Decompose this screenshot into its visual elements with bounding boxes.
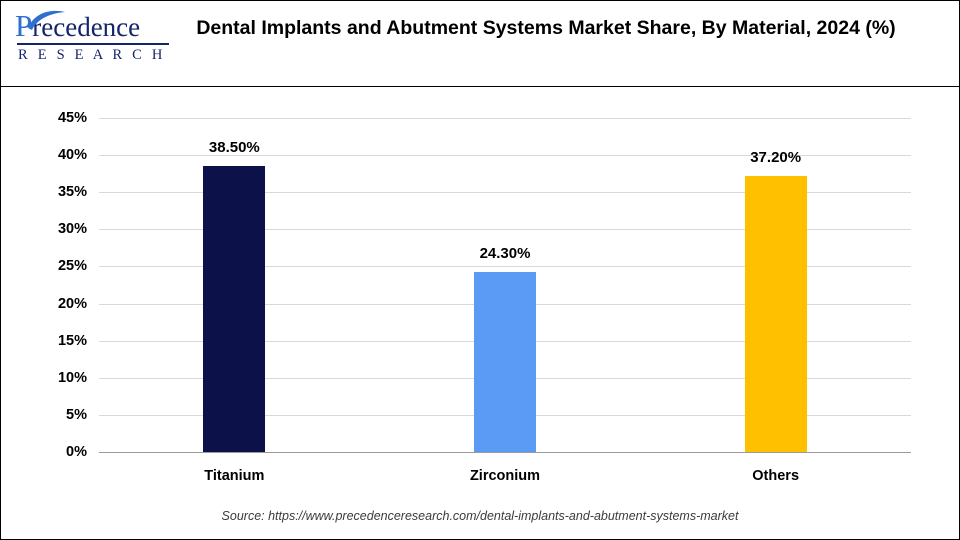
y-axis-tick-label: 0% [27,444,87,460]
y-axis-tick-label: 30% [27,221,87,237]
chart-header: Precedence R E S E A R C H Dental Implan… [1,1,959,87]
y-axis-tick-label: 40% [27,147,87,163]
bar-value-label: 37.20% [750,149,801,166]
logo-subtext: R E S E A R C H [18,47,185,64]
y-axis-tick-label: 15% [27,333,87,349]
y-axis-tick-label: 5% [27,407,87,423]
x-axis-line [99,452,911,453]
y-axis-tick-label: 10% [27,370,87,386]
bar-value-label: 24.30% [480,245,531,262]
bar-others [745,176,807,452]
x-axis-category-label: Titanium [204,468,264,484]
precedence-research-logo: Precedence R E S E A R C H [15,11,185,73]
bar-titanium [203,166,265,452]
y-axis-tick-label: 35% [27,184,87,200]
logo-divider [17,43,169,45]
y-axis-tick-label: 45% [27,110,87,126]
chart-plot-area: 0%5%10%15%20%25%30%35%40%45%38.50%Titani… [1,87,959,538]
y-axis-tick-label: 20% [27,296,87,312]
x-axis-category-label: Zirconium [470,468,540,484]
bar-value-label: 38.50% [209,139,260,156]
chart-page: Precedence R E S E A R C H Dental Implan… [0,0,960,540]
bar-zirconium [474,272,536,452]
source-note: Source: https://www.precedenceresearch.c… [1,509,959,523]
x-axis-category-label: Others [752,468,799,484]
y-axis-tick-label: 25% [27,258,87,274]
page-title: Dental Implants and Abutment Systems Mar… [196,13,896,43]
swoosh-icon [27,9,67,31]
gridline [99,118,911,119]
